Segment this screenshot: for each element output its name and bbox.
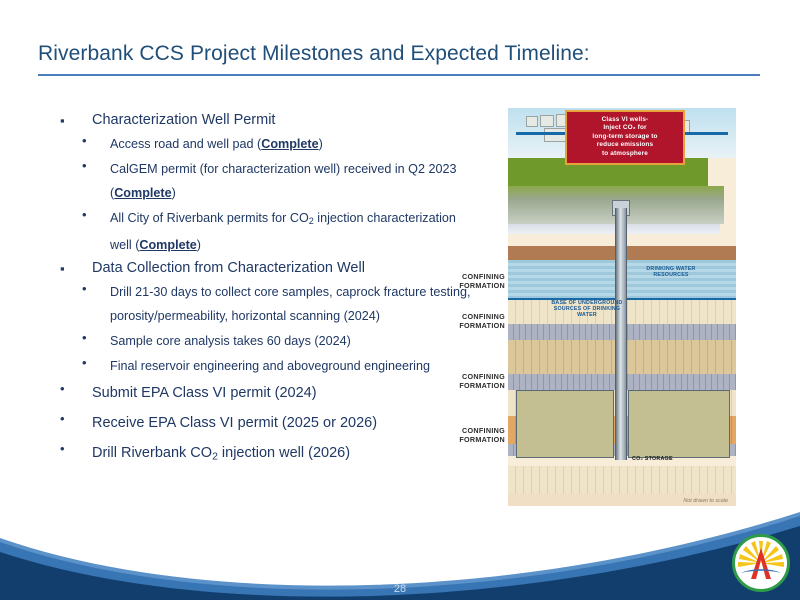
diagram-rock-layer xyxy=(508,466,736,494)
milestone-text: Characterization Well Permit xyxy=(92,110,480,131)
milestone-item: •Access road and well pad (Complete) xyxy=(60,132,480,156)
confining-formation-label: CONFINING FORMATION xyxy=(443,312,505,330)
milestone-item: •Drill 21-30 days to collect core sample… xyxy=(60,280,480,328)
dot-bullet-icon: • xyxy=(60,354,110,369)
milestone-item: ▪Data Collection from Characterization W… xyxy=(60,258,480,279)
diagram-co2-storage-layer xyxy=(508,224,720,234)
co2-storage-label: CO₂ STORAGE xyxy=(632,456,673,462)
callout-line: reduce emissions xyxy=(569,141,681,149)
milestone-item: •Sample core analysis takes 60 days (202… xyxy=(60,329,480,353)
callout-line: long-term storage to xyxy=(569,133,681,141)
logo-mark xyxy=(735,537,787,589)
base-usdw-label: BASE OF UNDERGROUND SOURCES OF DRINKING … xyxy=(548,300,626,319)
status-complete-badge: Complete xyxy=(139,238,196,252)
milestone-item: •CalGEM permit (for characterization wel… xyxy=(60,157,480,205)
milestone-text: Drill Riverbank CO2 injection well (2026… xyxy=(92,439,480,471)
milestone-text: Data Collection from Characterization We… xyxy=(92,258,480,279)
dot-bullet-icon: • xyxy=(60,439,92,455)
milestone-text: Drill 21-30 days to collect core samples… xyxy=(110,280,480,328)
callout-bracket-left xyxy=(516,132,568,135)
callout-line: to atmosphere xyxy=(569,150,681,158)
title-divider xyxy=(38,74,760,76)
milestone-text: Sample core analysis takes 60 days (2024… xyxy=(110,329,480,353)
callout-line: Class VI wells- xyxy=(569,116,681,124)
milestone-text: Access road and well pad (Complete) xyxy=(110,132,480,156)
milestone-text: CalGEM permit (for characterization well… xyxy=(110,157,480,205)
milestone-item: •Drill Riverbank CO2 injection well (202… xyxy=(60,439,480,471)
wellbore xyxy=(615,208,627,460)
drinking-water-resources-label: DRINKING WATER RESOURCES xyxy=(636,266,706,278)
dot-bullet-icon: • xyxy=(60,206,110,221)
milestone-item: ▪Characterization Well Permit xyxy=(60,110,480,131)
page-title: Riverbank CCS Project Milestones and Exp… xyxy=(38,42,758,66)
dot-bullet-icon: • xyxy=(60,379,92,395)
class-vi-wells-callout: Class VI wells- Inject CO₂ for long-term… xyxy=(565,110,685,165)
milestone-item: •All City of Riverbank permits for CO2 i… xyxy=(60,206,480,257)
milestone-text: Final reservoir engineering and abovegro… xyxy=(110,354,480,378)
slide-footer: 28 xyxy=(0,508,800,600)
milestone-item: •Submit EPA Class VI permit (2024) xyxy=(60,379,480,407)
dot-bullet-icon: • xyxy=(60,409,92,425)
square-bullet-icon: ▪ xyxy=(60,110,92,127)
callout-line: Inject CO₂ for xyxy=(569,124,681,132)
dot-bullet-icon: • xyxy=(60,132,110,147)
status-complete-badge: Complete xyxy=(261,137,318,151)
milestone-text: All City of Riverbank permits for CO2 in… xyxy=(110,206,480,257)
milestone-item: •Receive EPA Class VI permit (2025 or 20… xyxy=(60,409,480,437)
confining-formation-label: CONFINING FORMATION xyxy=(443,372,505,390)
milestone-text: Submit EPA Class VI permit (2024) xyxy=(92,379,480,407)
square-bullet-icon: ▪ xyxy=(60,258,92,275)
facility-building xyxy=(526,116,538,127)
milestone-text: Receive EPA Class VI permit (2025 or 202… xyxy=(92,409,480,437)
dot-bullet-icon: • xyxy=(60,329,110,344)
dot-bullet-icon: • xyxy=(60,280,110,295)
page-number: 28 xyxy=(0,583,800,595)
facility-building xyxy=(540,115,554,127)
organization-logo xyxy=(732,534,790,592)
dot-bullet-icon: • xyxy=(60,157,110,172)
confining-formation-label: CONFINING FORMATION xyxy=(443,426,505,444)
status-complete-badge: Complete xyxy=(114,186,171,200)
not-to-scale-note: Not drawn to scale xyxy=(683,498,728,504)
confining-formation-label: CONFINING FORMATION xyxy=(443,272,505,290)
milestone-item: •Final reservoir engineering and abovegr… xyxy=(60,354,480,378)
ccs-well-diagram: Class VI wells- Inject CO₂ for long-term… xyxy=(508,108,736,506)
diagram-reservoir-block xyxy=(516,390,614,458)
diagram-reservoir-block xyxy=(628,390,730,458)
milestones-list: ▪Characterization Well Permit•Access roa… xyxy=(60,110,480,473)
